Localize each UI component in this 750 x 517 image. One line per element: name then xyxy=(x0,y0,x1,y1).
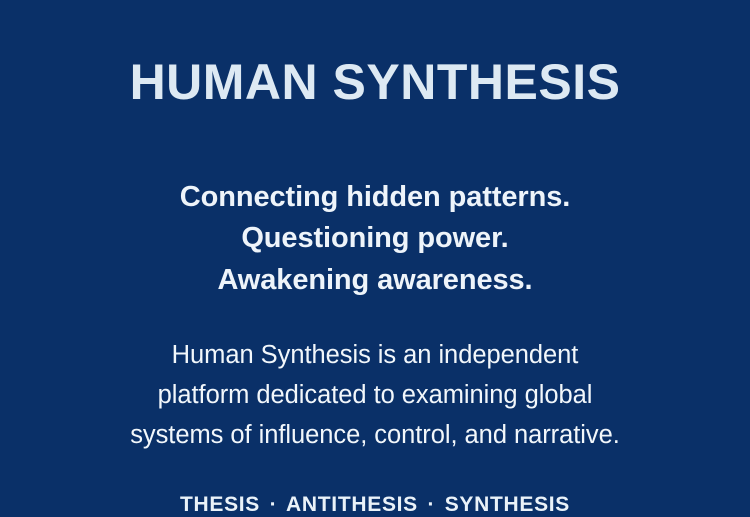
motto-line: THESIS · ANTITHESIS · SYNTHESIS xyxy=(180,492,570,517)
description-line-1: Human Synthesis is an independent xyxy=(130,335,620,375)
motto-term-thesis: THESIS xyxy=(180,493,260,516)
description-block: Human Synthesis is an independent platfo… xyxy=(130,335,620,456)
motto-separator-1: · xyxy=(267,493,281,516)
page-title: HUMAN SYNTHESIS xyxy=(130,57,621,107)
motto-term-synthesis: SYNTHESIS xyxy=(445,493,570,516)
motto-term-antithesis: ANTITHESIS xyxy=(286,493,418,516)
tagline-block: Connecting hidden patterns. Questioning … xyxy=(180,177,570,302)
description-line-3: systems of influence, control, and narra… xyxy=(130,415,620,455)
tagline-line-2: Questioning power. xyxy=(180,218,570,260)
tagline-line-3: Awakening awareness. xyxy=(180,260,570,302)
description-line-2: platform dedicated to examining global xyxy=(130,375,620,415)
hero-card: HUMAN SYNTHESIS Connecting hidden patter… xyxy=(0,0,750,500)
motto-separator-2: · xyxy=(424,493,438,516)
tagline-line-1: Connecting hidden patterns. xyxy=(180,177,570,219)
